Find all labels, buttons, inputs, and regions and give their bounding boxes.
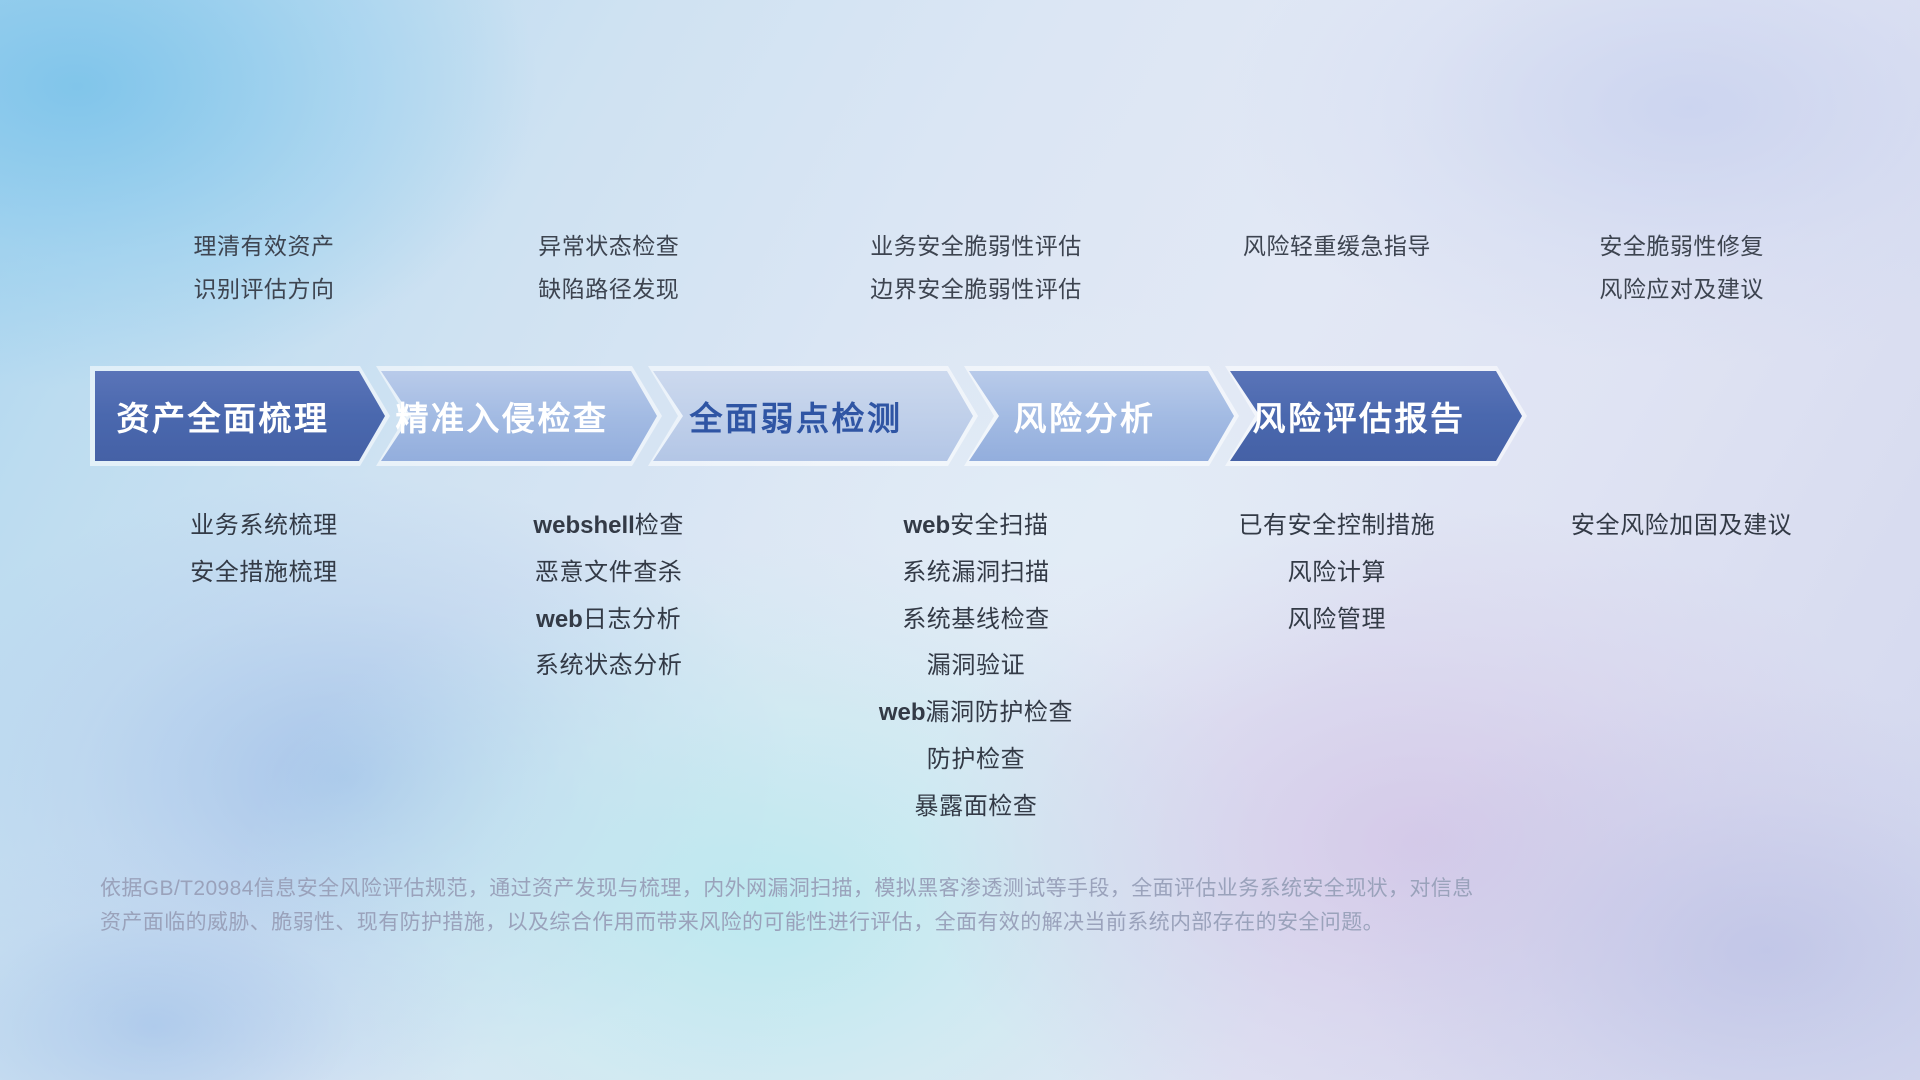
item-text: 风险计算 bbox=[1288, 559, 1386, 588]
item-text-rest: 安全扫描 bbox=[950, 512, 1048, 539]
process-stage-asset-inventory[interactable]: 资产全面梳理 bbox=[90, 366, 390, 466]
item-text-emphasis: web bbox=[903, 512, 950, 539]
item-text: 暴露面检查 bbox=[915, 793, 1038, 822]
stage-title: 全面弱点检测 bbox=[690, 392, 937, 440]
item-text-emphasis: web bbox=[536, 606, 583, 633]
item-text: 防护检查 bbox=[927, 746, 1025, 775]
items-column-weakness-detection: web安全扫描系统漏洞扫描系统基线检查漏洞验证web漏洞防护检查防护检查暴露面检… bbox=[779, 512, 1172, 822]
caption-text: 风险应对及建议 bbox=[1599, 275, 1764, 304]
top-captions-row: 理清有效资产识别评估方向异常状态检查缺陷路径发现业务安全脆弱性评估边界安全脆弱性… bbox=[90, 232, 1862, 304]
footer-description: 依据GB/T20984信息安全风险评估规范，通过资产发现与梳理，内外网漏洞扫描，… bbox=[100, 872, 1610, 940]
footer-line-1: 依据GB/T20984信息安全风险评估规范，通过资产发现与梳理，内外网漏洞扫描，… bbox=[100, 872, 1610, 906]
item-text: 风险管理 bbox=[1288, 606, 1386, 635]
infographic-canvas: 理清有效资产识别评估方向异常状态检查缺陷路径发现业务安全脆弱性评估边界安全脆弱性… bbox=[0, 0, 1920, 1080]
caption-text: 异常状态检查 bbox=[538, 232, 679, 261]
caption-text: 理清有效资产 bbox=[193, 232, 334, 261]
caption-text: 边界安全脆弱性评估 bbox=[870, 275, 1082, 304]
caption-column-weakness-detection: 业务安全脆弱性评估边界安全脆弱性评估 bbox=[779, 232, 1172, 304]
caption-column-asset-inventory: 理清有效资产识别评估方向 bbox=[90, 232, 438, 304]
item-text-rest: 漏洞防护检查 bbox=[926, 699, 1074, 726]
item-text: 系统漏洞扫描 bbox=[902, 559, 1050, 588]
item-text: 安全风险加固及建议 bbox=[1571, 512, 1792, 541]
process-stage-risk-analysis[interactable]: 风险分析 bbox=[964, 366, 1239, 466]
bottom-items-row: 业务系统梳理安全措施梳理webshell检查恶意文件查杀web日志分析系统状态分… bbox=[90, 512, 1862, 822]
item-text: web安全扫描 bbox=[903, 512, 1048, 541]
process-stage-weakness-detection[interactable]: 全面弱点检测 bbox=[648, 366, 978, 466]
item-text: 业务系统梳理 bbox=[190, 512, 338, 541]
item-text: 漏洞验证 bbox=[927, 652, 1025, 681]
item-text-emphasis: web bbox=[879, 699, 926, 726]
item-text: 系统状态分析 bbox=[535, 652, 683, 681]
process-stage-risk-report[interactable]: 风险评估报告 bbox=[1225, 366, 1527, 466]
caption-text: 识别评估方向 bbox=[193, 275, 334, 304]
item-text-rest: 日志分析 bbox=[583, 606, 681, 633]
caption-text: 风险轻重缓急指导 bbox=[1243, 232, 1431, 261]
item-text: web日志分析 bbox=[536, 606, 681, 635]
item-text-rest: 检查 bbox=[635, 512, 684, 539]
caption-text: 缺陷路径发现 bbox=[538, 275, 679, 304]
item-text: web漏洞防护检查 bbox=[879, 699, 1073, 728]
item-text: webshell检查 bbox=[533, 512, 684, 541]
item-text: 恶意文件查杀 bbox=[535, 559, 683, 588]
process-arrow-band: 资产全面梳理精准入侵检查全面弱点检测风险分析风险评估报告 bbox=[90, 366, 1527, 466]
items-column-asset-inventory: 业务系统梳理安全措施梳理 bbox=[90, 512, 438, 822]
items-column-risk-report: 安全风险加固及建议 bbox=[1501, 512, 1862, 822]
items-column-risk-analysis: 已有安全控制措施风险计算风险管理 bbox=[1173, 512, 1502, 822]
caption-text: 安全脆弱性修复 bbox=[1599, 232, 1764, 261]
stage-title: 资产全面梳理 bbox=[117, 392, 364, 440]
item-text-emphasis: webshell bbox=[533, 512, 634, 539]
caption-text: 业务安全脆弱性评估 bbox=[870, 232, 1082, 261]
stage-title: 风险评估报告 bbox=[1253, 392, 1500, 440]
stage-title: 精准入侵检查 bbox=[396, 392, 643, 440]
item-text: 系统基线检查 bbox=[902, 606, 1050, 635]
item-text: 安全措施梳理 bbox=[190, 559, 338, 588]
caption-column-intrusion-check: 异常状态检查缺陷路径发现 bbox=[438, 232, 780, 304]
items-column-intrusion-check: webshell检查恶意文件查杀web日志分析系统状态分析 bbox=[438, 512, 780, 822]
item-text: 已有安全控制措施 bbox=[1238, 512, 1435, 541]
caption-column-risk-report: 安全脆弱性修复风险应对及建议 bbox=[1501, 232, 1862, 304]
caption-column-risk-analysis: 风险轻重缓急指导 bbox=[1173, 232, 1502, 304]
process-stage-intrusion-check[interactable]: 精准入侵检查 bbox=[376, 366, 662, 466]
stage-title: 风险分析 bbox=[1014, 392, 1190, 440]
footer-line-2: 资产面临的威胁、脆弱性、现有防护措施，以及综合作用而带来风险的可能性进行评估，全… bbox=[100, 906, 1610, 940]
